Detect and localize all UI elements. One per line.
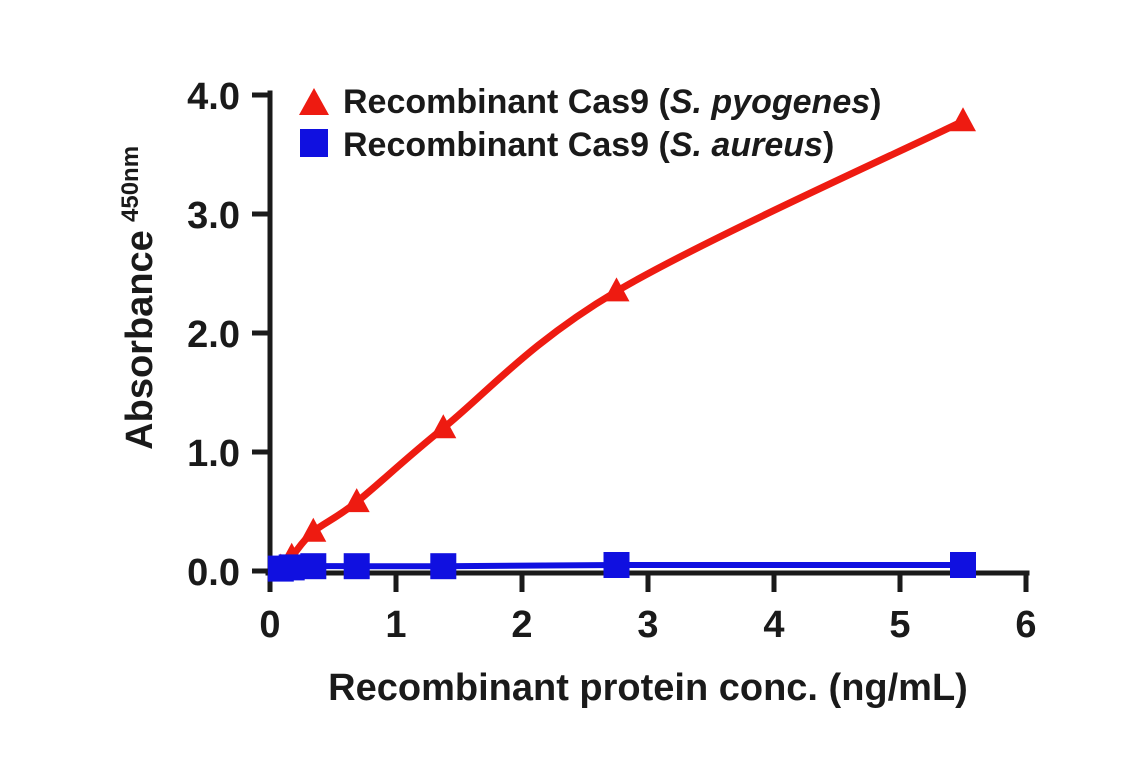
data-point-square bbox=[344, 553, 370, 579]
x-tick-label-4: 4 bbox=[763, 604, 784, 646]
x-axis-title: Recombinant protein conc. (ng/mL) bbox=[328, 667, 968, 709]
x-tick-label-5: 5 bbox=[889, 604, 910, 646]
y-axis-title-group: Absorbance 450nm bbox=[117, 146, 161, 450]
y-tick-label-1: 1.0 bbox=[187, 433, 240, 475]
y-tick-label-0: 0.0 bbox=[187, 552, 240, 594]
y-axis-title-subscript: 450nm bbox=[117, 146, 144, 222]
y-axis-title: Absorbance bbox=[119, 230, 161, 450]
legend-label-0: Recombinant Cas9 (S. pyogenes) bbox=[343, 83, 881, 121]
data-point-triangle bbox=[950, 107, 976, 131]
y-axis-ticks bbox=[252, 95, 270, 571]
series-line-red bbox=[281, 121, 963, 567]
chart-svg: 4.0 3.0 2.0 1.0 0.0 0 1 2 3 4 5 6 Recomb… bbox=[0, 0, 1141, 768]
y-tick-label-3: 3.0 bbox=[187, 195, 240, 237]
legend-label-1-italic: S. aureus bbox=[670, 126, 823, 164]
chart-container: 4.0 3.0 2.0 1.0 0.0 0 1 2 3 4 5 6 Recomb… bbox=[0, 0, 1141, 768]
x-tick-label-6: 6 bbox=[1015, 604, 1036, 646]
x-axis-ticks bbox=[270, 573, 1026, 592]
legend-label-1: Recombinant Cas9 (S. aureus) bbox=[343, 126, 834, 164]
x-tick-label-1: 1 bbox=[385, 604, 406, 646]
y-tick-label-4: 4.0 bbox=[187, 76, 240, 118]
triangle-marker-red bbox=[299, 88, 329, 115]
legend-label-0-italic: S. pyogenes bbox=[670, 83, 870, 121]
legend-label-0-suffix: ) bbox=[870, 83, 881, 121]
x-tick-label-0: 0 bbox=[259, 604, 280, 646]
legend-label-1-prefix: Recombinant Cas9 ( bbox=[343, 126, 671, 164]
square-marker-blue bbox=[300, 129, 328, 157]
legend-label-0-prefix: Recombinant Cas9 ( bbox=[343, 83, 671, 121]
data-point-square bbox=[950, 552, 976, 578]
legend-label-1-suffix: ) bbox=[823, 126, 834, 164]
y-tick-label-2: 2.0 bbox=[187, 314, 240, 356]
data-point-square bbox=[300, 553, 326, 579]
data-point-square bbox=[430, 553, 456, 579]
x-tick-label-3: 3 bbox=[637, 604, 658, 646]
legend: Recombinant Cas9 (S. pyogenes) Recombina… bbox=[299, 83, 881, 164]
x-tick-label-2: 2 bbox=[511, 604, 532, 646]
data-point-square bbox=[604, 552, 630, 578]
data-series-layer bbox=[268, 107, 976, 581]
